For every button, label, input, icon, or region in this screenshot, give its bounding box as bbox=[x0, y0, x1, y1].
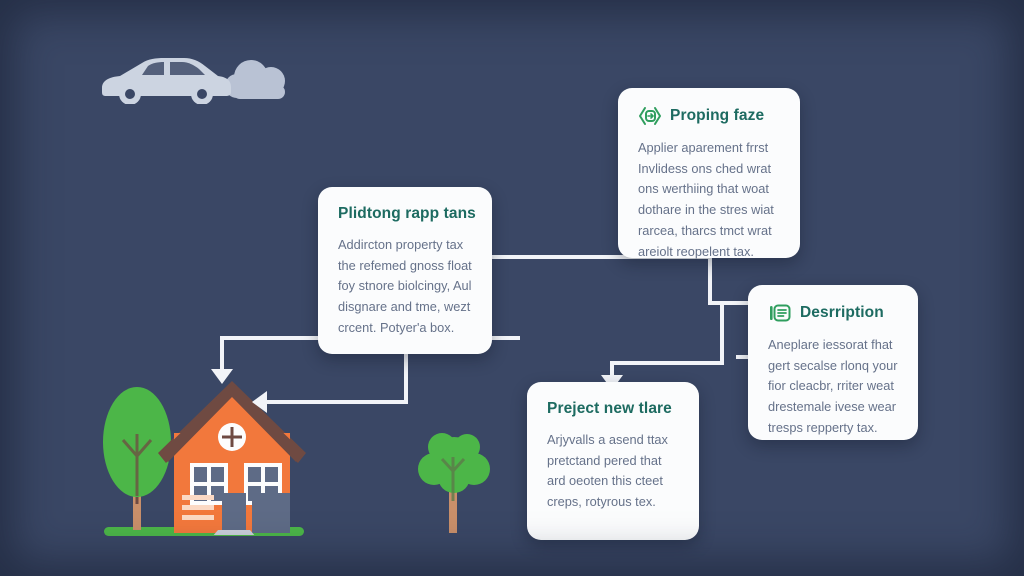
card-title: Preject new tlare bbox=[547, 400, 672, 418]
arrow-exchange-icon bbox=[638, 106, 662, 126]
car-illustration bbox=[98, 54, 233, 104]
card-title: Desrription bbox=[800, 304, 884, 322]
card-proping-faze[interactable]: Proping faze Applier aparement frrst Inv… bbox=[618, 88, 800, 258]
cloud-illustration bbox=[223, 57, 295, 105]
connector-segment-plidtong-left bbox=[265, 400, 408, 404]
card-title: Plidtong rapp tans bbox=[338, 205, 476, 223]
card-body-text: Aneplare iessorat fhat gert secalse rlon… bbox=[768, 335, 898, 439]
connector-segment-preject-feed-h bbox=[610, 361, 724, 365]
connector-segment-plidtong-down bbox=[404, 353, 408, 404]
card-header: Proping faze bbox=[638, 106, 780, 126]
card-body-text: Addircton property tax the refemed gnoss… bbox=[338, 235, 472, 339]
card-title: Proping faze bbox=[670, 107, 764, 125]
arrow-head-into-house-roof bbox=[211, 369, 233, 384]
card-desrription[interactable]: Desrription Aneplare iessorat fhat gert … bbox=[748, 285, 918, 440]
card-body-text: Applier aparement frrst Invlidess ons ch… bbox=[638, 138, 780, 262]
card-header: Plidtong rapp tans bbox=[338, 205, 472, 223]
card-header: Preject new tlare bbox=[547, 400, 679, 418]
connector-segment-house-down bbox=[220, 336, 224, 373]
card-plidtong-rapp-tans[interactable]: Plidtong rapp tans Addircton property ta… bbox=[318, 187, 492, 354]
card-preject-new-tlare[interactable]: Preject new tlare Arjyvalls a asend ttax… bbox=[527, 382, 699, 540]
house-illustration bbox=[152, 375, 312, 535]
document-list-icon bbox=[768, 303, 792, 323]
arrow-head-into-house-side bbox=[252, 391, 267, 413]
card-body-text: Arjyvalls a asend ttax pretctand pered t… bbox=[547, 430, 679, 513]
connector-segment-proping-down bbox=[708, 257, 712, 305]
card-header: Desrription bbox=[768, 303, 898, 323]
tree-illustration bbox=[412, 431, 496, 535]
diagram-canvas: Proping faze Applier aparement frrst Inv… bbox=[0, 0, 1024, 576]
connector-segment-desrription-down bbox=[720, 301, 724, 365]
